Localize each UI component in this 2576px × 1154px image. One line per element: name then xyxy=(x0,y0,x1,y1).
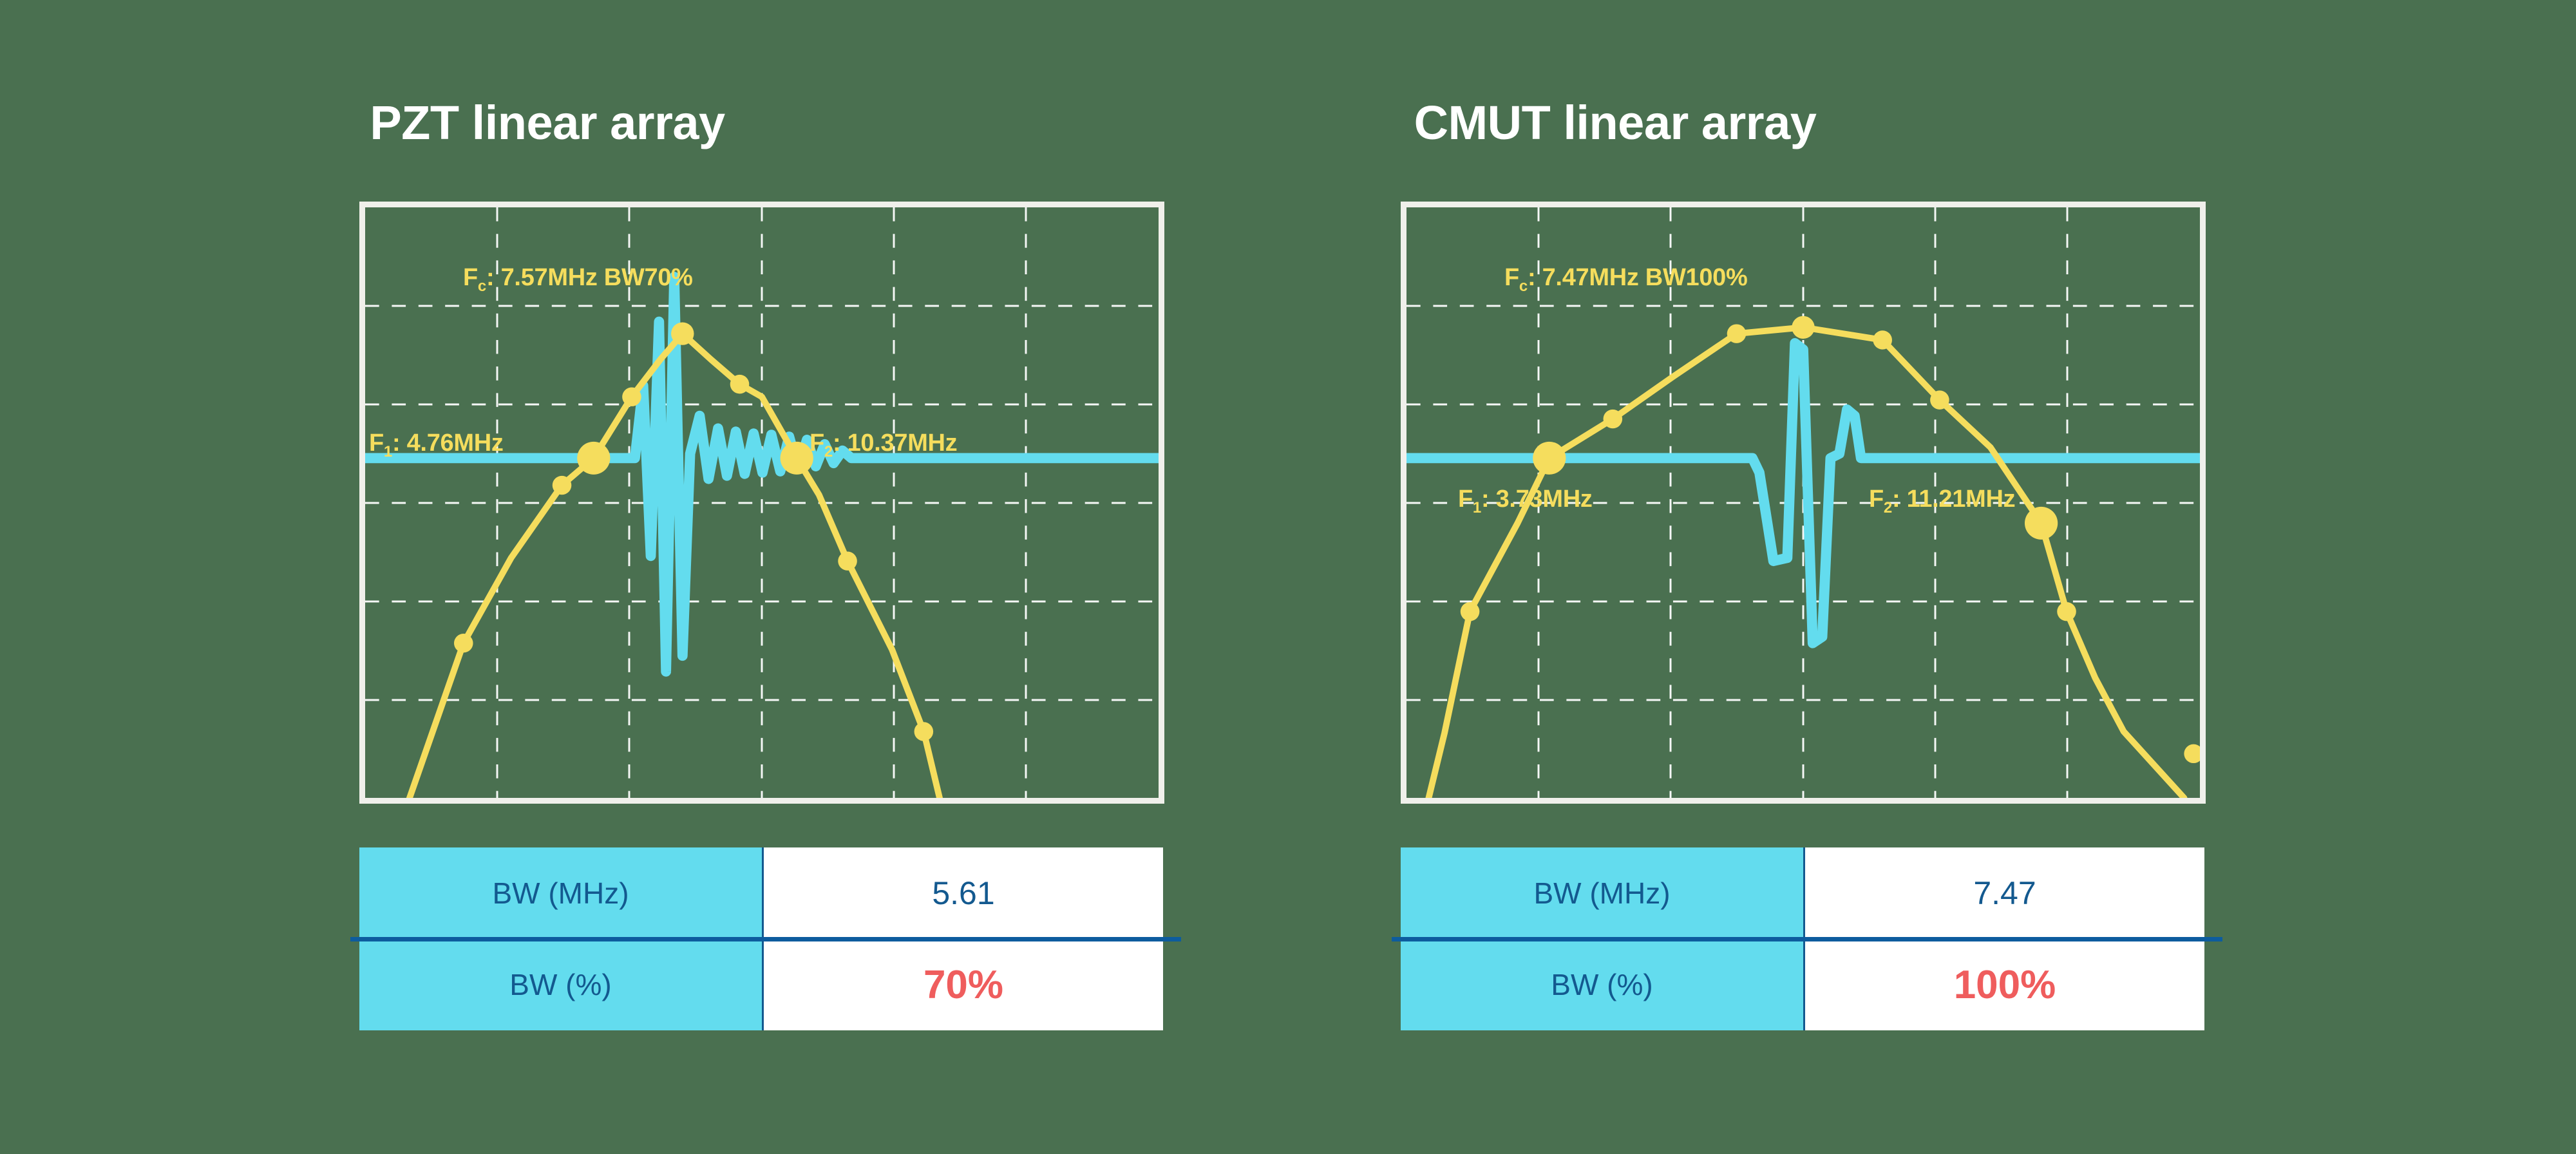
annot-text: : 7.57MHz BW70% xyxy=(486,264,693,291)
table-divider xyxy=(350,937,1181,941)
table-row: BW (MHz) 7.47 xyxy=(1401,847,2204,939)
table-value-bw-percent: 100% xyxy=(1805,939,2204,1030)
annot-sub: c xyxy=(1519,278,1528,295)
annot-sub: c xyxy=(478,278,486,295)
annotation-f1-cmut: F1: 3.73MHz xyxy=(1458,486,1593,513)
annot-sub: 1 xyxy=(1473,499,1481,516)
annotation-f2-cmut: F2: 11.21MHz xyxy=(1869,486,2015,513)
annot-sub: 2 xyxy=(1884,499,1892,516)
annotation-f2-pzt: F2: 10.37MHz xyxy=(810,430,957,457)
annotation-f1-pzt: F1: 4.76MHz xyxy=(369,430,504,457)
chart-inner-pzt: Fc: 7.57MHz BW70% F1: 4.76MHz F2: 10.37M… xyxy=(365,207,1159,798)
table-row: BW (MHz) 5.61 xyxy=(359,847,1163,939)
table-row: BW (%) 70% xyxy=(359,939,1163,1030)
annot-prefix: F xyxy=(369,430,384,457)
table-header-bw-mhz: BW (MHz) xyxy=(1401,847,1805,939)
table-value-bw-mhz: 7.47 xyxy=(1805,847,2204,939)
annot-prefix: F xyxy=(810,430,824,457)
chart-frame-pzt: Fc: 7.57MHz BW70% F1: 4.76MHz F2: 10.37M… xyxy=(359,202,1164,804)
table-header-bw-percent: BW (%) xyxy=(359,939,764,1030)
comparison-figure: PZT linear array xyxy=(0,0,2576,1154)
panel-pzt: PZT linear array xyxy=(6,0,1166,1154)
annot-prefix: F xyxy=(463,264,478,291)
chart-frame-cmut: Fc: 7.47MHz BW100% F1: 3.73MHz F2: 11.21… xyxy=(1401,202,2206,804)
annotation-center-frequency-pzt: Fc: 7.57MHz BW70% xyxy=(463,264,693,292)
annot-prefix: F xyxy=(1458,486,1473,513)
annot-prefix: F xyxy=(1869,486,1884,513)
annot-text: : 3.73MHz xyxy=(1481,486,1593,513)
page-title-pzt: PZT linear array xyxy=(0,95,1127,150)
page-title-cmut: CMUT linear array xyxy=(1036,95,2195,150)
annot-sub: 2 xyxy=(824,443,833,460)
table-header-bw-percent: BW (%) xyxy=(1401,939,1805,1030)
table-divider xyxy=(1392,937,2222,941)
chart-curves-pzt xyxy=(365,207,1159,798)
annotation-center-frequency-cmut: Fc: 7.47MHz BW100% xyxy=(1504,264,1748,292)
chart-inner-cmut: Fc: 7.47MHz BW100% F1: 3.73MHz F2: 11.21… xyxy=(1406,207,2200,798)
bandwidth-table-pzt: BW (MHz) 5.61 BW (%) 70% xyxy=(359,847,1163,1030)
annot-text: : 7.47MHz BW100% xyxy=(1528,264,1748,291)
annot-text: : 11.21MHz xyxy=(1892,486,2015,513)
table-header-bw-mhz: BW (MHz) xyxy=(359,847,764,939)
annot-prefix: F xyxy=(1504,264,1519,291)
bandwidth-table-cmut: BW (MHz) 7.47 BW (%) 100% xyxy=(1401,847,2204,1030)
annot-text: : 10.37MHz xyxy=(833,430,957,457)
annot-text: : 4.76MHz xyxy=(392,430,504,457)
panel-cmut: CMUT linear array xyxy=(1050,0,2209,1154)
table-row: BW (%) 100% xyxy=(1401,939,2204,1030)
annot-sub: 1 xyxy=(384,443,392,460)
